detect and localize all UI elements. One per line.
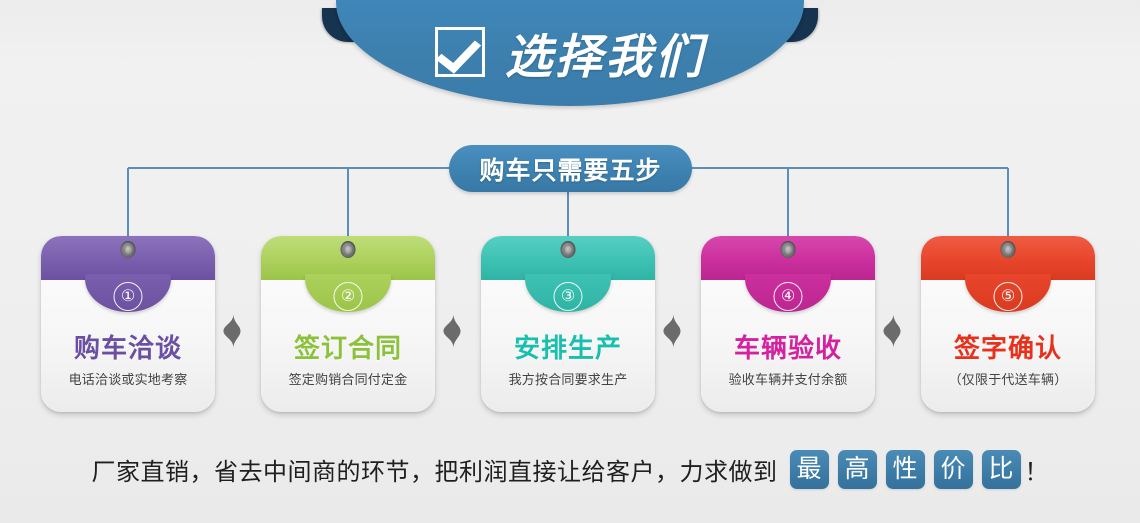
step-card-3-title: 安排生产 xyxy=(481,328,655,365)
step-card-1[interactable]: ① 购车洽谈 电话洽谈或实地考察 xyxy=(41,236,215,412)
footer-highlight-1: 最 xyxy=(790,450,829,489)
step-card-3-subtitle: 我方按合同要求生产 xyxy=(481,369,655,388)
step-card-1-number: ① xyxy=(114,282,143,311)
step-card-5-subtitle: （仅限于代送车辆） xyxy=(921,369,1095,388)
step-card-4-subtitle: 验收车辆并支付余额 xyxy=(701,369,875,388)
step-card-4[interactable]: ④ 车辆验收 验收车辆并支付余额 xyxy=(701,236,875,412)
banner-content: 选择我们 xyxy=(322,0,818,100)
step-card-2-grommet-icon xyxy=(341,241,356,258)
footer-exclamation: ！ xyxy=(1025,452,1049,487)
step-card-2-number: ② xyxy=(334,282,363,311)
checkbox-checked-icon xyxy=(435,27,485,77)
arrow-separator-2 xyxy=(442,314,462,348)
step-card-4-grommet-icon xyxy=(781,241,796,258)
step-card-1-subtitle: 电话洽谈或实地考察 xyxy=(41,369,215,388)
subtitle-pill: 购车只需要五步 xyxy=(449,145,692,192)
step-card-5[interactable]: ⑤ 签字确认 （仅限于代送车辆） xyxy=(921,236,1095,412)
step-card-2[interactable]: ② 签订合同 签定购销合同付定金 xyxy=(261,236,435,412)
step-card-3[interactable]: ③ 安排生产 我方按合同要求生产 xyxy=(481,236,655,412)
arrow-separator-1 xyxy=(222,314,242,348)
subtitle-label: 购车只需要五步 xyxy=(479,151,661,187)
footer-tagline: 厂家直销，省去中间商的环节，把利润直接让给客户，力求做到 最 高 性 价 比 ！ xyxy=(0,442,1140,496)
step-card-2-title: 签订合同 xyxy=(261,328,435,365)
step-card-4-title: 车辆验收 xyxy=(701,328,875,365)
step-card-3-number: ③ xyxy=(554,282,583,311)
footer-highlight-2: 高 xyxy=(838,450,877,489)
infographic-stage: 选择我们 购车只需要五步 ① 购车洽谈 电话洽谈或实地考察 xyxy=(0,0,1140,523)
steps-row: ① 购车洽谈 电话洽谈或实地考察 ② 签订合同 签定购销合同付定金 ③ 安排生产… xyxy=(0,236,1140,416)
step-card-5-number: ⑤ xyxy=(994,282,1023,311)
footer-highlight-3: 性 xyxy=(886,450,925,489)
footer-text: 厂家直销，省去中间商的环节，把利润直接让给客户，力求做到 xyxy=(92,452,778,487)
arrow-separator-3 xyxy=(662,314,682,348)
footer-highlight-4: 价 xyxy=(934,450,973,489)
step-card-5-title: 签字确认 xyxy=(921,328,1095,365)
footer-highlight-5: 比 xyxy=(982,450,1021,489)
step-card-1-title: 购车洽谈 xyxy=(41,328,215,365)
footer-highlight-group: 最 高 性 价 比 xyxy=(790,450,1021,489)
step-card-4-number: ④ xyxy=(774,282,803,311)
header-banner: 选择我们 xyxy=(322,0,818,110)
step-card-5-grommet-icon xyxy=(1001,241,1016,258)
step-card-3-grommet-icon xyxy=(561,241,576,258)
step-card-2-subtitle: 签定购销合同付定金 xyxy=(261,369,435,388)
arrow-separator-4 xyxy=(882,314,902,348)
step-card-1-grommet-icon xyxy=(121,241,136,258)
banner-title: 选择我们 xyxy=(505,18,705,87)
